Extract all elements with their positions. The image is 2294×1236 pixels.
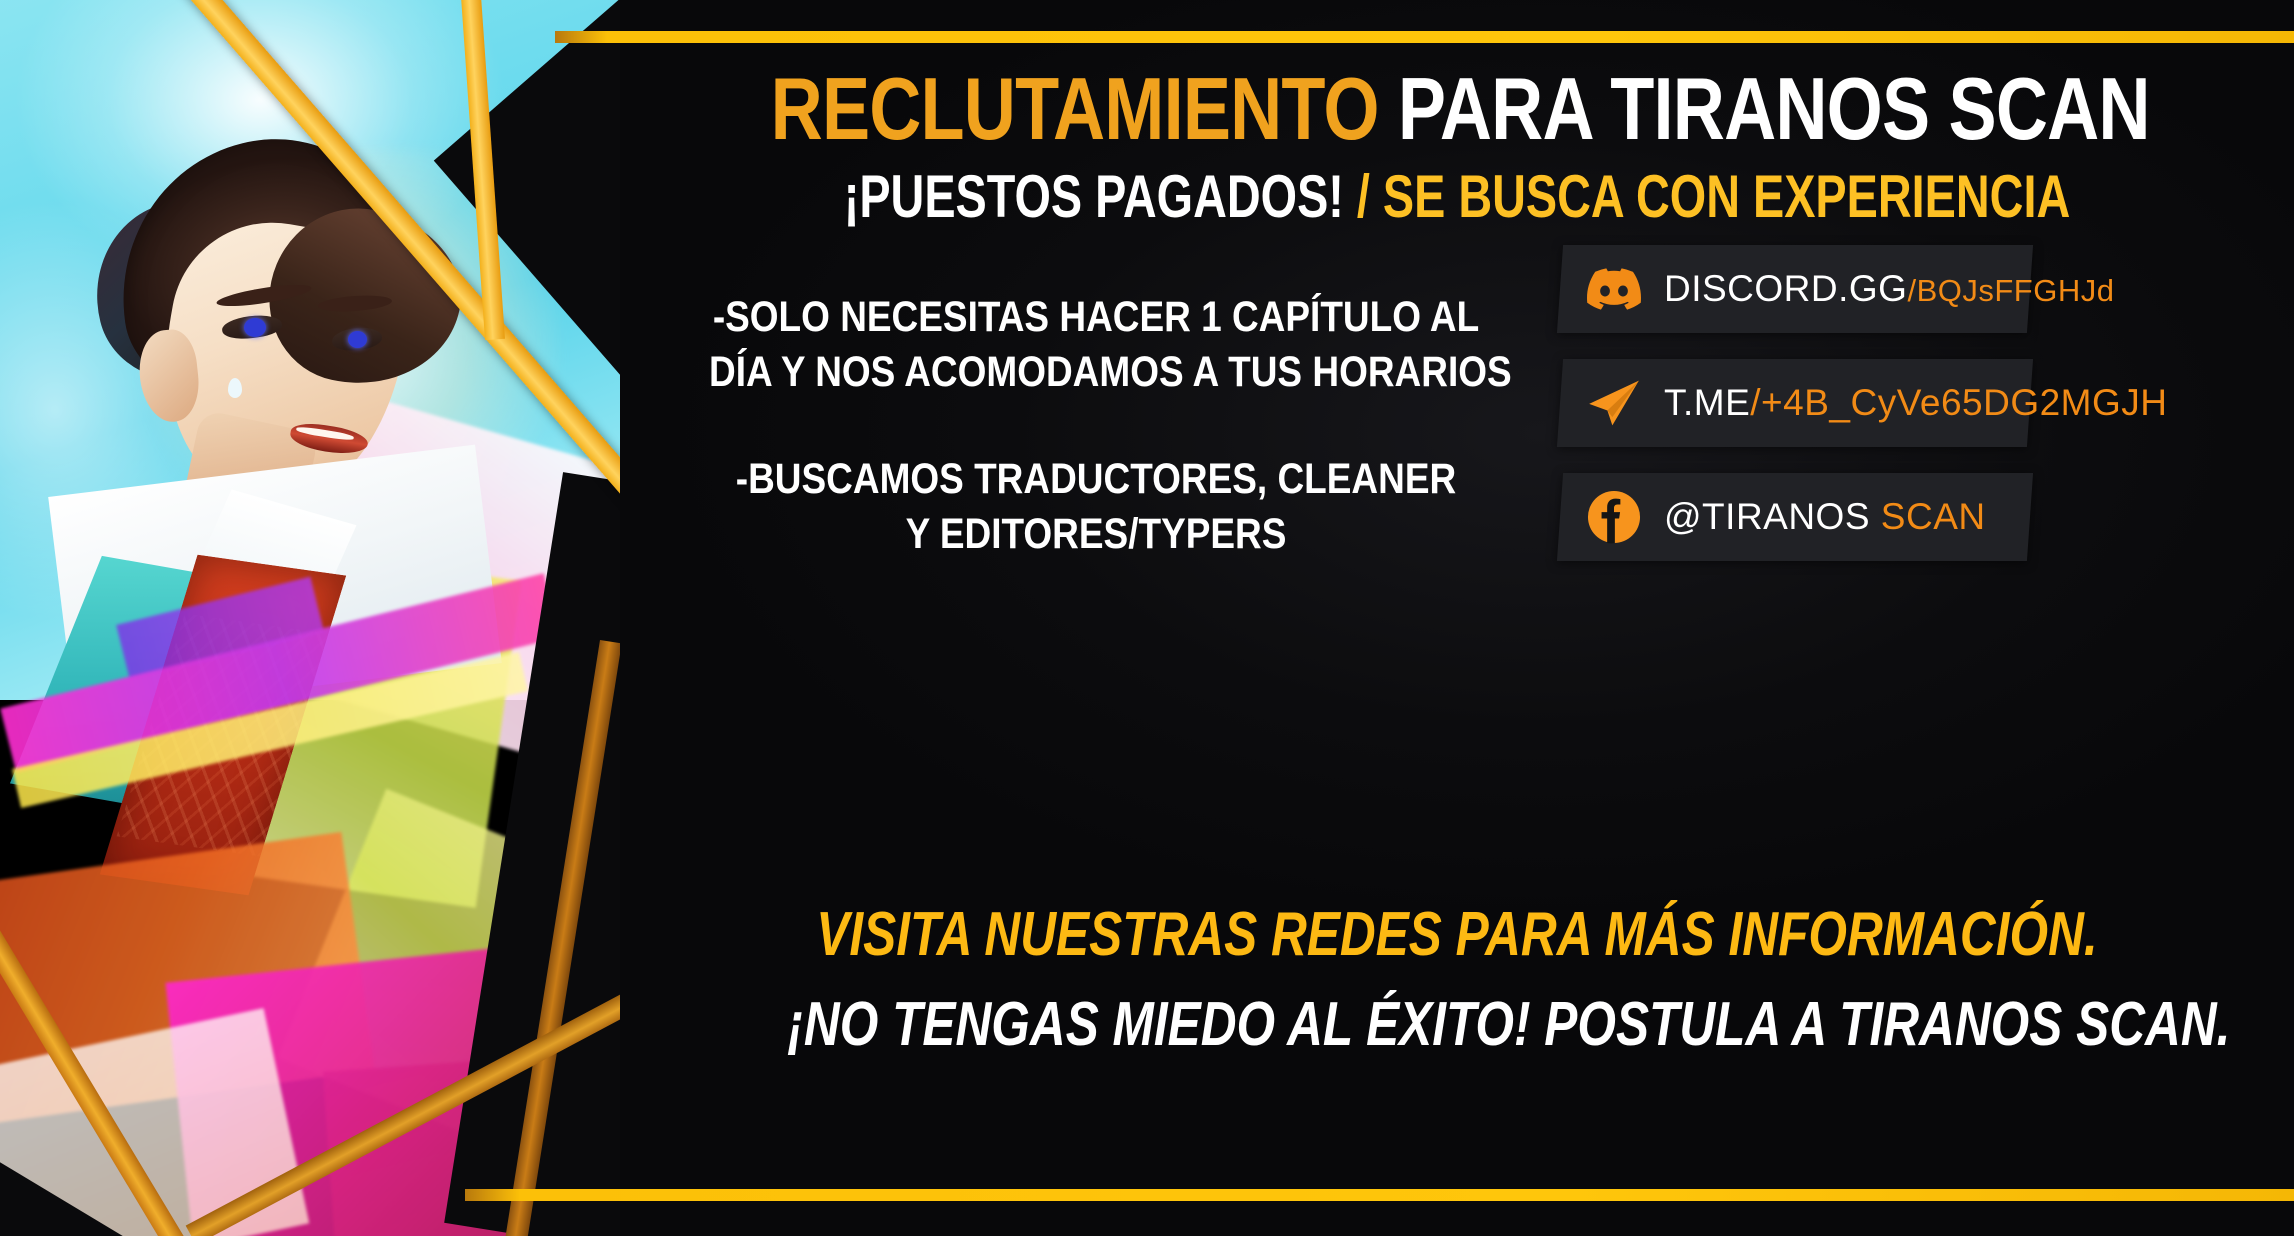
contact-card-discord[interactable]: DISCORD.GG/BQJsFFGHJd — [1557, 245, 2033, 333]
contact-card-telegram[interactable]: T.ME/+4B_CyVe65DG2MGJH — [1557, 359, 2033, 447]
sweat-drop — [228, 378, 242, 398]
subtitle-experience: / SE BUSCA CON EXPERIENCIA — [1357, 163, 2070, 230]
page-subtitle: ¡PUESTOS PAGADOS! / SE BUSCA CON EXPERIE… — [804, 162, 2110, 231]
list-item: -SOLO NECESITAS HACER 1 CAPÍTULO AL DÍA … — [709, 290, 1483, 400]
facebook-handle: @TIRANOS — [1664, 496, 1870, 537]
page-title: RECLUTAMIENTO PARA TIRANOS SCAN — [771, 58, 2144, 160]
bullet-1-line-2: DÍA Y NOS ACOMODAMOS A TUS HORARIOS — [709, 345, 1483, 400]
facebook-icon — [1586, 489, 1642, 545]
title-rest: PARA TIRANOS SCAN — [1398, 59, 2150, 158]
list-item: -BUSCAMOS TRADUCTORES, CLEANER Y EDITORE… — [709, 452, 1483, 562]
telegram-domain: T.ME — [1664, 382, 1750, 423]
gold-rule-top — [555, 31, 2294, 43]
facebook-handle-suffix: SCAN — [1870, 496, 1986, 537]
bullet-2-line-1: -BUSCAMOS TRADUCTORES, CLEANER — [709, 452, 1483, 507]
contact-card-facebook[interactable]: @TIRANOS SCAN — [1557, 473, 2033, 561]
gold-rule-bottom — [465, 1189, 2294, 1201]
cta-line-2: ¡NO TENGAS MIEDO AL ÉXITO! POSTULA A TIR… — [787, 980, 2126, 1070]
contact-label-discord: DISCORD.GG/BQJsFFGHJd — [1664, 268, 2114, 310]
bullet-2-line-2: Y EDITORES/TYPERS — [709, 507, 1483, 562]
cta-line-1: VISITA NUESTRAS REDES PARA MÁS INFORMACI… — [787, 890, 2126, 980]
contact-label-facebook: @TIRANOS SCAN — [1664, 496, 1986, 538]
content-panel: RECLUTAMIENTO PARA TIRANOS SCAN ¡PUESTOS… — [620, 0, 2294, 1236]
character-artwork-panel — [0, 0, 620, 1236]
discord-invite-code: /BQJsFFGHJd — [1907, 273, 2114, 308]
telegram-invite-code: /+4B_CyVe65DG2MGJH — [1750, 382, 2167, 423]
contact-card-list: DISCORD.GG/BQJsFFGHJd T.ME/+4B_CyVe65DG2… — [1560, 245, 2030, 587]
recruitment-banner: RECLUTAMIENTO PARA TIRANOS SCAN ¡PUESTOS… — [0, 0, 2294, 1236]
requirements-list: -SOLO NECESITAS HACER 1 CAPÍTULO AL DÍA … — [646, 290, 1546, 614]
call-to-action: VISITA NUESTRAS REDES PARA MÁS INFORMACI… — [620, 890, 2294, 1070]
title-highlight: RECLUTAMIENTO — [771, 59, 1379, 158]
discord-domain: DISCORD.GG — [1664, 268, 1907, 309]
bullet-1-line-1: -SOLO NECESITAS HACER 1 CAPÍTULO AL — [709, 290, 1483, 345]
iris-right — [348, 331, 367, 348]
telegram-icon — [1586, 375, 1642, 431]
discord-icon — [1586, 261, 1642, 317]
iris-left — [244, 318, 266, 337]
subtitle-paid: ¡PUESTOS PAGADOS! — [844, 163, 1344, 230]
contact-label-telegram: T.ME/+4B_CyVe65DG2MGJH — [1664, 382, 2168, 424]
